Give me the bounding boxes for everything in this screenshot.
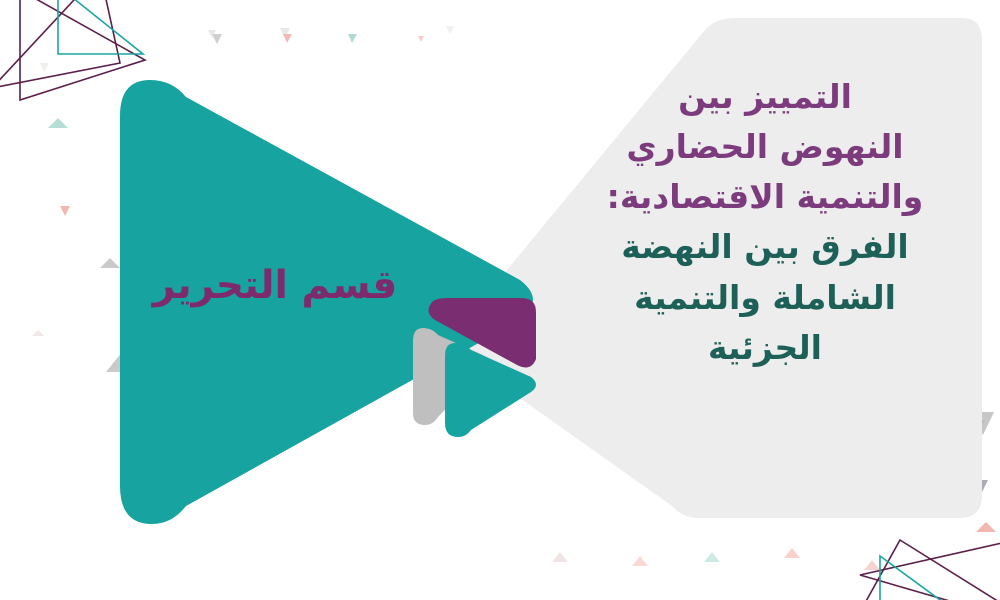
title-line-4: الفرق بين النهضة — [560, 222, 970, 272]
department-label: قسم التحرير — [110, 262, 440, 311]
title-line-3: والتنمية الاقتصادية: — [560, 172, 970, 222]
title-block: التمييز بين النهوض الحضاري والتنمية الاق… — [560, 72, 970, 373]
title-line-2: النهوض الحضاري — [560, 122, 970, 172]
title-line-5: الشاملة والتنمية — [560, 273, 970, 323]
title-line-1: التمييز بين — [560, 72, 970, 122]
title-line-6: الجزئية — [560, 323, 970, 373]
slide-canvas: قسم التحرير التمييز بين النهوض الحضاري و… — [0, 0, 1000, 600]
